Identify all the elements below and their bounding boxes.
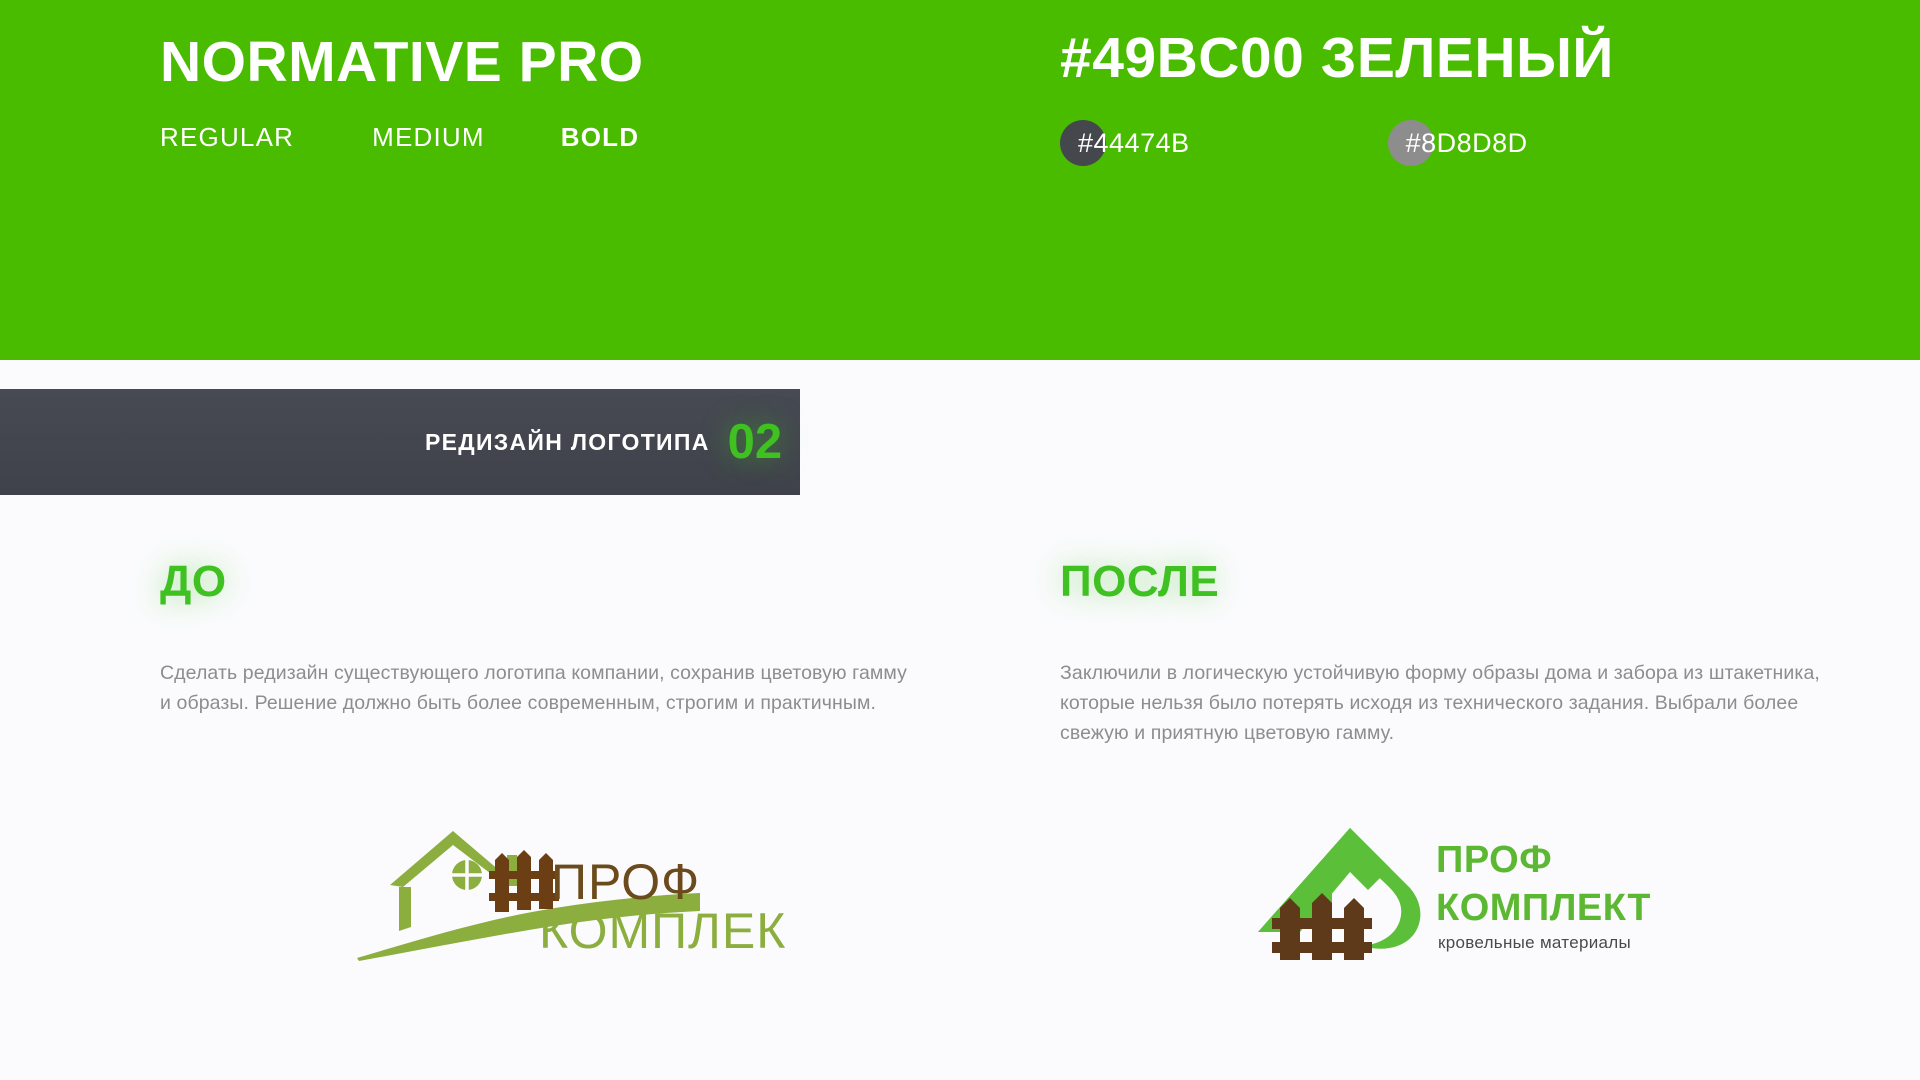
logo-old-word-top: ПРОФ	[551, 854, 700, 910]
after-heading: ПОСЛЕ	[1060, 560, 1820, 604]
section-bar-wrapper: РЕДИЗАЙН ЛОГОТИПА 02	[0, 389, 1000, 495]
section-title: РЕДИЗАЙН ЛОГОТИПА	[425, 429, 710, 456]
after-body-text: Заключили в логическую устойчивую форму …	[1060, 659, 1820, 748]
weight-regular-label: REGULAR	[160, 122, 294, 153]
typography-block: NORMATIVE PRO REGULAR MEDIUM BOLD	[160, 30, 920, 153]
primary-color-title: #49BC00 ЗЕЛЕНЫЙ	[1060, 26, 1820, 92]
logo-new-word-bottom: КОМПЛЕКТ	[1436, 887, 1650, 929]
logo-new-word-top: ПРОФ	[1436, 839, 1552, 881]
before-body-text: Сделать редизайн существующего логотипа …	[160, 659, 920, 719]
swatch-row: #44474B #8D8D8D	[1060, 120, 1820, 168]
swatch-label-dark: #44474B	[1060, 128, 1190, 159]
before-heading: ДО	[160, 560, 920, 604]
color-swatch-gray: #8D8D8D	[1388, 120, 1528, 168]
after-logo-slot: ПРОФ КОМПЛЕКТ кровельные материалы	[1060, 800, 1830, 980]
weight-medium-label: MEDIUM	[372, 122, 485, 153]
compare-section: ДО Сделать редизайн существующего логоти…	[0, 560, 1920, 1020]
swatch-label-gray: #8D8D8D	[1388, 128, 1528, 159]
section-number: 02	[728, 418, 783, 467]
column-before: ДО Сделать редизайн существующего логоти…	[160, 560, 920, 719]
color-swatch-dark: #44474B	[1060, 120, 1190, 168]
brand-header: NORMATIVE PRO REGULAR MEDIUM BOLD #49BC0…	[0, 0, 1920, 360]
font-name-title: NORMATIVE PRO	[160, 30, 920, 96]
logo-prof-komplekt-old: ПРОФ КОМПЛЕКТ	[355, 815, 785, 965]
logo-fence-shape	[1272, 893, 1372, 960]
logo-prof-komplekt-new: ПРОФ КОМПЛЕКТ кровельные материалы	[1250, 810, 1650, 970]
palette-block: #49BC00 ЗЕЛЕНЫЙ #44474B #8D8D8D	[1060, 26, 1820, 168]
before-logo-slot: ПРОФ КОМПЛЕКТ	[160, 800, 950, 980]
logo-wall-shape	[399, 887, 411, 931]
logo-new-tagline: кровельные материалы	[1438, 933, 1631, 952]
logo-old-word-bottom: КОМПЛЕКТ	[539, 903, 785, 959]
weight-bold-label: BOLD	[561, 122, 639, 153]
font-weight-row: REGULAR MEDIUM BOLD	[160, 122, 920, 153]
column-after: ПОСЛЕ Заключили в логическую устойчивую …	[1060, 560, 1820, 748]
section-bar-content: РЕДИЗАЙН ЛОГОТИПА 02	[0, 389, 782, 495]
